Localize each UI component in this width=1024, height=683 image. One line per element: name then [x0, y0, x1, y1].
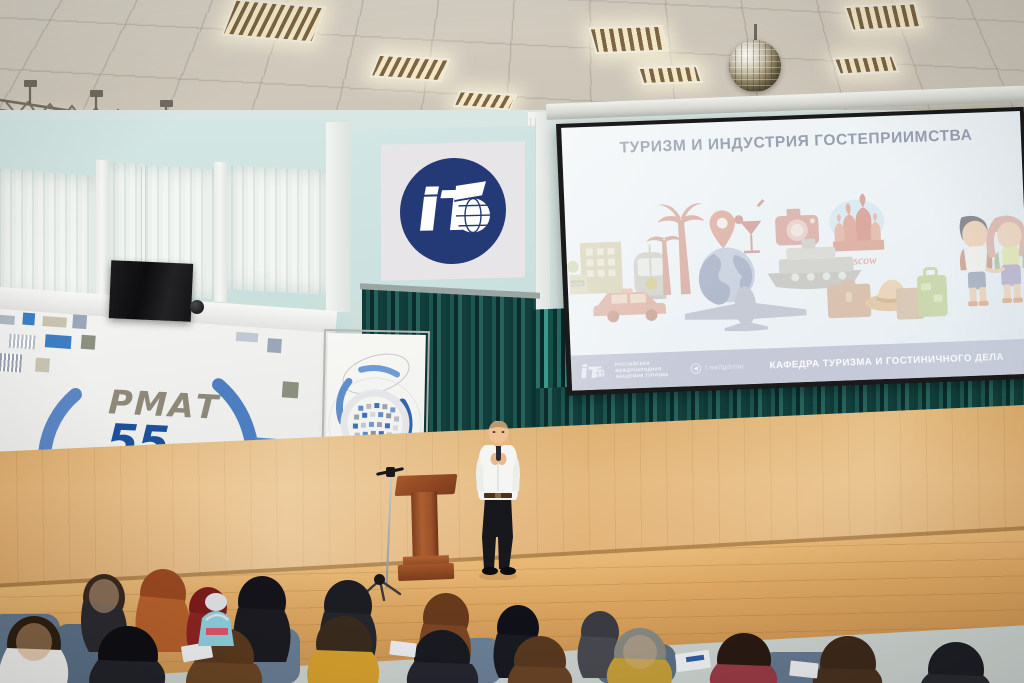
banner-square — [282, 381, 299, 398]
presentation-slide: ТУРИЗМ И ИНДУСТРИЯ ГОСТЕПРИИМСТВА — [561, 111, 1024, 391]
ceiling-light-5 — [637, 65, 703, 85]
banner-square — [0, 315, 15, 325]
rmat-logo-circle — [400, 157, 506, 266]
wall-pillar-left — [96, 160, 109, 305]
telegram-link[interactable]: t.me/tgdrmat — [690, 361, 744, 374]
audience — [0, 566, 1024, 683]
window-blinds-left — [0, 167, 98, 304]
telegram-icon — [690, 363, 701, 374]
banner-square — [236, 332, 259, 343]
banner-square — [22, 313, 35, 326]
hotel-icon: HOTEL — [566, 241, 623, 294]
blind-cord-a — [141, 166, 142, 270]
disco-ball — [729, 40, 781, 92]
audio-equipment-case — [109, 260, 193, 322]
banner-square — [81, 335, 96, 350]
banner-square — [35, 358, 50, 373]
banner-square — [9, 334, 36, 350]
slide-title: ТУРИЗМ И ИНДУСТРИЯ ГОСТЕПРИИМСТВА — [585, 126, 1008, 159]
banner-square — [45, 334, 72, 349]
ceiling-light-2 — [369, 54, 450, 82]
wall-pillar-right — [214, 162, 227, 303]
microphone-clip — [386, 467, 395, 477]
ceiling-light-4 — [588, 25, 670, 54]
window-blinds-right — [226, 165, 330, 294]
cocktail-icon — [734, 199, 767, 254]
banner-square — [72, 314, 87, 329]
ceiling-light-7 — [833, 55, 900, 76]
equipment-knob — [190, 300, 204, 314]
audience-member — [921, 642, 990, 683]
academy-name: РОССИЙСКАЯ МЕЖДУНАРОДНАЯ АКАДЕМИЯ ТУРИЗМ… — [615, 360, 669, 381]
rmat-logo-icon — [400, 157, 506, 266]
slide-illustration: HOTEL — [563, 164, 1024, 344]
presenter — [472, 421, 524, 580]
banner-square — [0, 353, 22, 373]
svg-text:HOTEL: HOTEL — [571, 281, 586, 287]
banner-square — [267, 338, 282, 353]
department-name: КАФЕДРА ТУРИЗМА И ГОСТИНИЧНОГО ДЕЛА — [769, 351, 1004, 371]
ceiling-light-6 — [844, 2, 925, 31]
suitcase-icon — [895, 268, 948, 320]
conference-hall-photo: ТУРИЗМ И ИНДУСТРИЯ ГОСТЕПРИИМСТВА — [0, 0, 1024, 683]
location-pin-icon — [709, 210, 736, 249]
banner-square — [42, 316, 67, 328]
brochure — [789, 661, 818, 679]
audience-member — [813, 636, 882, 683]
brochure — [389, 640, 417, 657]
moscow-cathedral-icon: Moscow — [828, 192, 886, 268]
audience-member — [710, 633, 777, 683]
telegram-handle: t.me/tgdrmat — [705, 363, 744, 371]
rmat-logo-poster — [381, 141, 525, 281]
briefcase-icon — [827, 279, 872, 318]
projector-screen[interactable]: ТУРИЗМ И ИНДУСТРИЯ ГОСТЕПРИИМСТВА — [556, 107, 1024, 396]
blind-cord-b — [145, 166, 146, 270]
wall-pillar-corner — [326, 122, 350, 312]
rmat-footer-logo-icon — [581, 364, 606, 381]
screen-cord-2 — [535, 118, 536, 296]
